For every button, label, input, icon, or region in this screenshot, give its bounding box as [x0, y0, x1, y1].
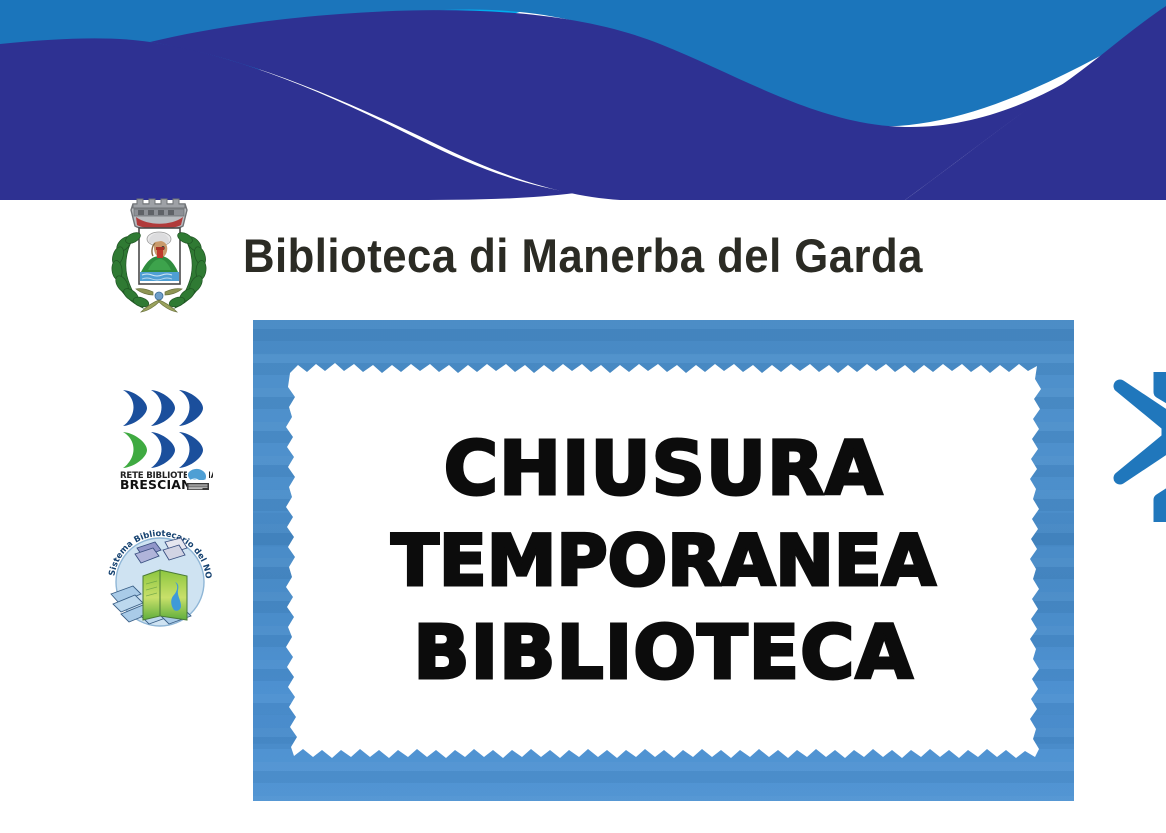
- announcement-line-chiusura: CHIUSURA: [444, 432, 884, 506]
- header-row: Biblioteca di Manerba del Garda: [103, 196, 1093, 314]
- announcement-line-biblioteca: BIBLIOTECA: [413, 616, 914, 690]
- announcement-inner-panel: CHIUSURA TEMPORANEA BIBLIOTECA: [285, 359, 1042, 763]
- star-burst-icon: [1098, 372, 1166, 522]
- wave-band-decoration: [0, 0, 1166, 200]
- announcement-line-temporanea: TEMPORANEA: [391, 526, 936, 596]
- announcement-text-block: CHIUSURA TEMPORANEA BIBLIOTECA: [285, 359, 1042, 763]
- municipal-coat-of-arms-icon: [103, 196, 215, 314]
- sistema-bibliotecario-nord-est-bresciano-logo: Sistema Bibliotecario del NORD-EST BRESC…: [101, 524, 219, 630]
- page-title: Biblioteca di Manerba del Garda: [243, 228, 923, 283]
- rete-bibliotecaria-bresciana-logo: RETE BIBLIOTECARIA BRESCIANA: [117, 384, 213, 492]
- announcement-card: CHIUSURA TEMPORANEA BIBLIOTECA: [253, 320, 1074, 801]
- poster-canvas: Biblioteca di Manerba del Garda RETE BIB…: [0, 0, 1166, 833]
